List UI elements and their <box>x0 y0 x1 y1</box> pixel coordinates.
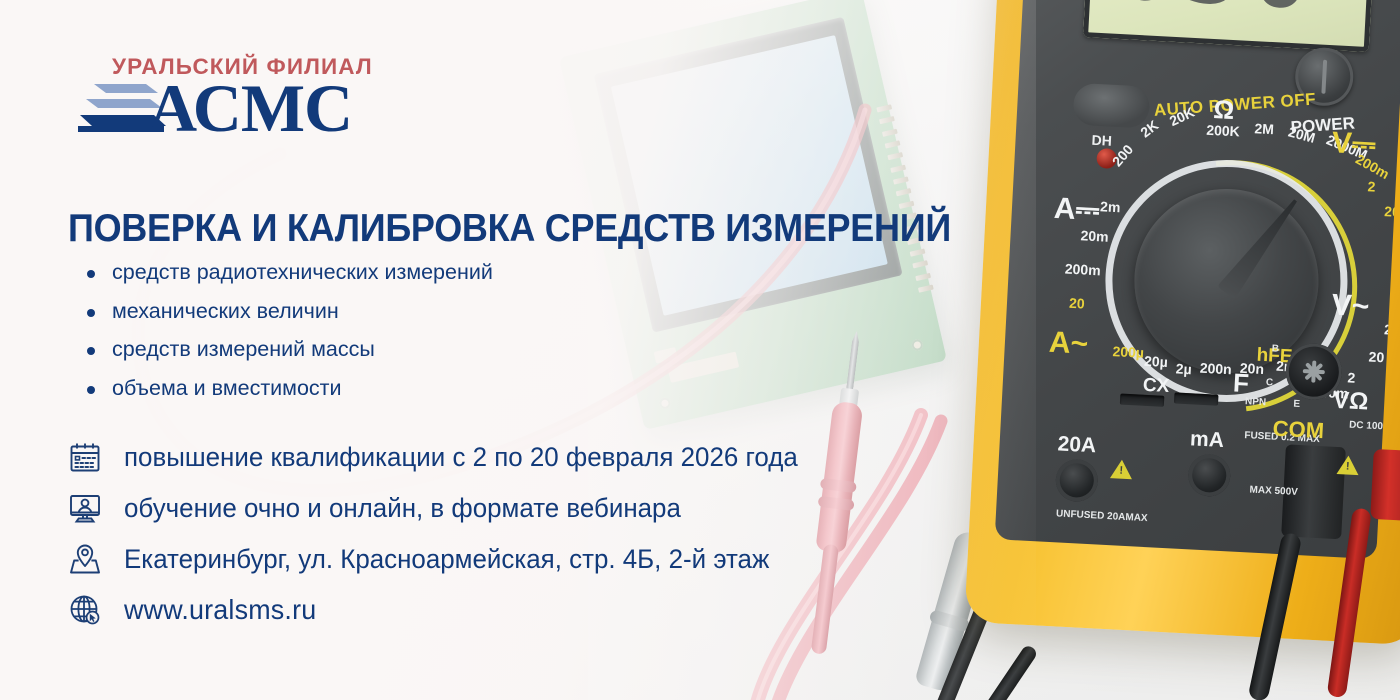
list-item: средств радиотехнических измерений <box>78 258 493 288</box>
info-list: повышение квалификации с 2 по 20 февраля… <box>62 432 826 636</box>
globe-cursor-icon <box>62 593 108 627</box>
asms-logo[interactable]: УРАЛЬСКИЙ ФИЛИАЛ АСМС <box>76 52 386 146</box>
banner-content: УРАЛЬСКИЙ ФИЛИАЛ АСМС ПОВЕРКА И КАЛИБРОВ… <box>0 0 1400 700</box>
services-list: средств радиотехнических измерений механ… <box>78 258 493 413</box>
info-text-website: www.uralsms.ru <box>124 594 316 626</box>
calendar-icon <box>62 440 108 474</box>
info-row-address: Екатеринбург, ул. Красноармейская, стр. … <box>62 534 826 584</box>
info-text-address: Екатеринбург, ул. Красноармейская, стр. … <box>124 544 769 575</box>
info-text-format: обучение очно и онлайн, в формате вебина… <box>124 493 681 524</box>
info-row-dates: повышение квалификации с 2 по 20 февраля… <box>62 432 826 482</box>
info-row-website[interactable]: www.uralsms.ru <box>62 585 826 635</box>
promo-banner: 050 DH POWER AUTO POWER OFF Ω 200 2K 20K <box>0 0 1400 700</box>
info-text-dates: повышение квалификации с 2 по 20 февраля… <box>124 442 798 473</box>
list-item: средств измерений массы <box>78 335 493 365</box>
map-pin-icon <box>62 542 108 576</box>
page-title: ПОВЕРКА И КАЛИБРОВКА СРЕДСТВ ИЗМЕРЕНИЙ <box>68 207 951 251</box>
info-row-format: обучение очно и онлайн, в формате вебина… <box>62 483 826 533</box>
list-item: механических величин <box>78 297 493 327</box>
webinar-monitor-icon <box>62 491 108 525</box>
logo-name: АСМС <box>148 74 352 142</box>
list-item: объема и вместимости <box>78 374 493 404</box>
